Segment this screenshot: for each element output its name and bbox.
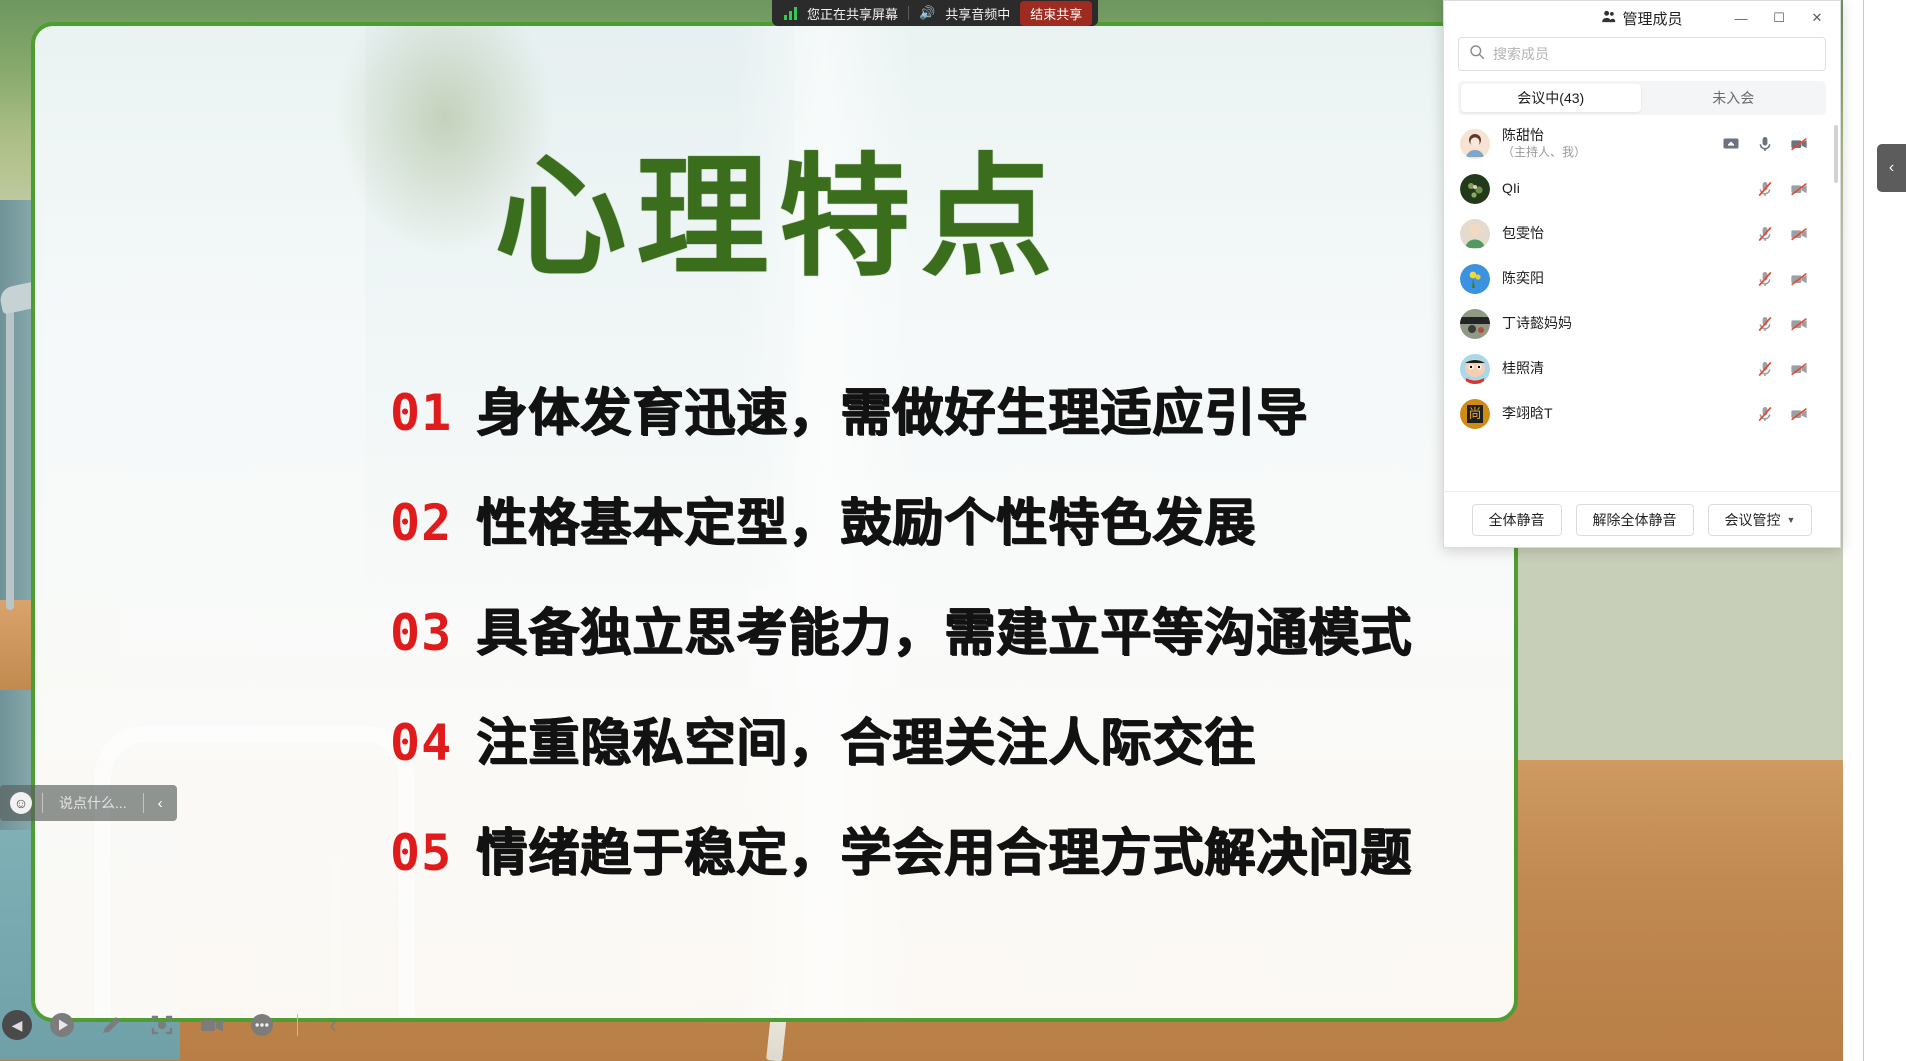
avatar: 尚 bbox=[1460, 399, 1490, 429]
list-item[interactable]: 陈奕阳 bbox=[1444, 256, 1834, 301]
participant-name-group: 陈奕阳 bbox=[1502, 270, 1544, 288]
play-icon[interactable] bbox=[47, 1010, 77, 1040]
list-item[interactable]: 包雯怡 bbox=[1444, 211, 1834, 256]
list-item: 03 具备独立思考能力，需建立平等沟通模式 bbox=[390, 591, 1490, 665]
stop-sharing-button[interactable]: 结束共享 bbox=[1020, 1, 1092, 26]
list-item: 04 注重隐私空间，合理关注人际交往 bbox=[390, 701, 1490, 775]
camera-off-icon[interactable] bbox=[1790, 315, 1808, 333]
list-item[interactable]: 桂照清 bbox=[1444, 346, 1834, 391]
participant-actions bbox=[1756, 405, 1824, 423]
maximize-button[interactable]: ☐ bbox=[1760, 3, 1798, 33]
list-item-number: 04 bbox=[390, 714, 452, 772]
meeting-control-button[interactable]: 会议管控 ▼ bbox=[1708, 504, 1813, 536]
tab-not-joined[interactable]: 未入会 bbox=[1644, 84, 1824, 112]
scene-lamp-arm bbox=[6, 310, 14, 610]
mic-off-icon[interactable] bbox=[1756, 315, 1774, 333]
tab-in-meeting[interactable]: 会议中(43) bbox=[1461, 84, 1641, 112]
right-panel-backdrop bbox=[1843, 0, 1865, 1061]
avatar bbox=[1460, 219, 1490, 249]
participant-name: 陈甜怡 bbox=[1502, 127, 1586, 145]
video-record-icon[interactable] bbox=[197, 1010, 227, 1040]
participant-name-group: 陈甜怡 （主持人、我） bbox=[1502, 127, 1586, 160]
close-button[interactable]: ✕ bbox=[1798, 3, 1836, 33]
avatar bbox=[1460, 129, 1490, 159]
list-item-text: 注重隐私空间，合理关注人际交往 bbox=[476, 701, 1256, 775]
sidebar-divider bbox=[1863, 0, 1864, 1061]
participant-name: QIi bbox=[1502, 180, 1520, 198]
mic-off-icon[interactable] bbox=[1756, 405, 1774, 423]
participant-role: （主持人、我） bbox=[1502, 145, 1586, 160]
mute-all-button[interactable]: 全体静音 bbox=[1472, 504, 1562, 536]
divider bbox=[297, 1014, 298, 1036]
list-item-number: 01 bbox=[390, 384, 452, 442]
media-controls-toolbar: ‹ bbox=[33, 1002, 362, 1048]
mic-off-icon[interactable] bbox=[1756, 180, 1774, 198]
list-item-text: 情绪趋于稳定，学会用合理方式解决问题 bbox=[476, 811, 1412, 885]
participants-list[interactable]: 陈甜怡 （主持人、我） QIi bbox=[1444, 121, 1840, 491]
sharing-status-text: 您正在共享屏幕 bbox=[807, 4, 898, 23]
list-item-number: 05 bbox=[390, 824, 452, 882]
participant-name-group: 桂照清 bbox=[1502, 360, 1544, 378]
list-item[interactable]: 陈甜怡 （主持人、我） bbox=[1444, 121, 1834, 166]
camera-off-icon[interactable] bbox=[1790, 135, 1808, 153]
audio-sharing-text: 共享音频中 bbox=[945, 4, 1010, 23]
list-item-number: 03 bbox=[390, 604, 452, 662]
chevron-left-icon[interactable]: ‹ bbox=[144, 795, 177, 812]
mic-off-icon[interactable] bbox=[1756, 270, 1774, 288]
search-input[interactable]: 搜索成员 bbox=[1458, 37, 1826, 71]
participant-name-group: 李翊晗T bbox=[1502, 405, 1553, 423]
participant-actions bbox=[1756, 360, 1824, 378]
participant-name: 陈奕阳 bbox=[1502, 270, 1544, 288]
slide-bullet-list: 01 身体发育迅速，需做好生理适应引导 02 性格基本定型，鼓励个性特色发展 0… bbox=[390, 371, 1490, 921]
meeting-control-label: 会议管控 bbox=[1725, 510, 1781, 530]
participant-name: 桂照清 bbox=[1502, 360, 1544, 378]
signal-bars-icon bbox=[784, 7, 797, 20]
list-item-text: 身体发育迅速，需做好生理适应引导 bbox=[476, 371, 1308, 445]
previous-slide-button[interactable]: ◀ bbox=[2, 1010, 32, 1040]
participant-actions bbox=[1756, 180, 1824, 198]
list-item: 05 情绪趋于稳定，学会用合理方式解决问题 bbox=[390, 811, 1490, 885]
avatar bbox=[1460, 264, 1490, 294]
more-options-icon[interactable] bbox=[247, 1010, 277, 1040]
list-item[interactable]: 丁诗懿妈妈 bbox=[1444, 301, 1834, 346]
panel-title: 管理成员 bbox=[1622, 8, 1682, 29]
search-icon bbox=[1469, 44, 1485, 64]
screen-share-toolbar: 您正在共享屏幕 🔊 共享音频中 结束共享 bbox=[772, 0, 1098, 26]
window-controls: — ☐ ✕ bbox=[1722, 3, 1836, 33]
list-item[interactable]: 尚 李翊晗T bbox=[1444, 391, 1834, 436]
list-item[interactable]: QIi bbox=[1444, 166, 1834, 211]
page-title: 心理特点 bbox=[35, 146, 1518, 291]
camera-off-icon[interactable] bbox=[1790, 225, 1808, 243]
avatar bbox=[1460, 309, 1490, 339]
participant-actions bbox=[1756, 315, 1824, 333]
list-item-text: 具备独立思考能力，需建立平等沟通模式 bbox=[476, 591, 1412, 665]
speaker-icon: 🔊 bbox=[919, 5, 935, 21]
participant-actions bbox=[1756, 270, 1824, 288]
chevron-left-icon[interactable]: ‹ bbox=[1877, 144, 1906, 192]
participant-name: 李翊晗T bbox=[1502, 405, 1553, 423]
chevron-down-icon: ▼ bbox=[1787, 515, 1796, 525]
mute-all-label: 全体静音 bbox=[1489, 510, 1545, 530]
camera-off-icon[interactable] bbox=[1790, 360, 1808, 378]
panel-titlebar: 管理成员 — ☐ ✕ bbox=[1444, 1, 1840, 35]
unmute-all-label: 解除全体静音 bbox=[1593, 510, 1677, 530]
avatar bbox=[1460, 174, 1490, 204]
participant-name-group: QIi bbox=[1502, 180, 1520, 198]
chat-input[interactable]: 说点什么... bbox=[43, 793, 143, 813]
panel-action-bar: 全体静音 解除全体静音 会议管控 ▼ bbox=[1444, 491, 1840, 547]
list-item-text: 性格基本定型，鼓励个性特色发展 bbox=[476, 481, 1256, 555]
toolbar-divider bbox=[908, 6, 909, 20]
presentation-slide: 心理特点 01 身体发育迅速，需做好生理适应引导 02 性格基本定型，鼓励个性特… bbox=[31, 22, 1518, 1022]
pencil-icon[interactable] bbox=[97, 1010, 127, 1040]
list-item-number: 02 bbox=[390, 494, 452, 552]
list-item: 01 身体发育迅速，需做好生理适应引导 bbox=[390, 371, 1490, 445]
camera-off-icon[interactable] bbox=[1790, 180, 1808, 198]
people-icon bbox=[1601, 9, 1616, 28]
participant-actions bbox=[1756, 225, 1824, 243]
camera-off-icon[interactable] bbox=[1790, 270, 1808, 288]
camera-off-icon[interactable] bbox=[1790, 405, 1808, 423]
list-item: 02 性格基本定型，鼓励个性特色发展 bbox=[390, 481, 1490, 555]
participant-name: 丁诗懿妈妈 bbox=[1502, 315, 1572, 333]
participant-actions bbox=[1722, 135, 1824, 153]
avatar bbox=[1460, 354, 1490, 384]
chevron-left-icon[interactable]: ‹ bbox=[318, 1010, 348, 1040]
participants-panel: 管理成员 — ☐ ✕ 搜索成员 会议中(43) 未入会 陈甜怡 （主持人、我） bbox=[1443, 0, 1841, 548]
minimize-button[interactable]: — bbox=[1722, 3, 1760, 33]
chat-input-bar[interactable]: ☺ 说点什么... ‹ bbox=[0, 785, 177, 821]
participant-name-group: 丁诗懿妈妈 bbox=[1502, 315, 1572, 333]
panel-tabs: 会议中(43) 未入会 bbox=[1458, 81, 1826, 115]
mic-off-icon[interactable] bbox=[1756, 360, 1774, 378]
list-scrollbar[interactable] bbox=[1834, 125, 1838, 183]
share-screen-icon[interactable] bbox=[1722, 135, 1740, 153]
mic-on-icon[interactable] bbox=[1756, 135, 1774, 153]
participant-name-group: 包雯怡 bbox=[1502, 225, 1544, 243]
mic-off-icon[interactable] bbox=[1756, 225, 1774, 243]
participant-name: 包雯怡 bbox=[1502, 225, 1544, 243]
search-placeholder: 搜索成员 bbox=[1493, 44, 1549, 64]
svg-text:尚: 尚 bbox=[1468, 407, 1481, 422]
screenshot-icon[interactable] bbox=[147, 1010, 177, 1040]
unmute-all-button[interactable]: 解除全体静音 bbox=[1576, 504, 1694, 536]
smiley-icon[interactable]: ☺ bbox=[10, 792, 32, 814]
slide-chair-decor bbox=[95, 726, 415, 1022]
